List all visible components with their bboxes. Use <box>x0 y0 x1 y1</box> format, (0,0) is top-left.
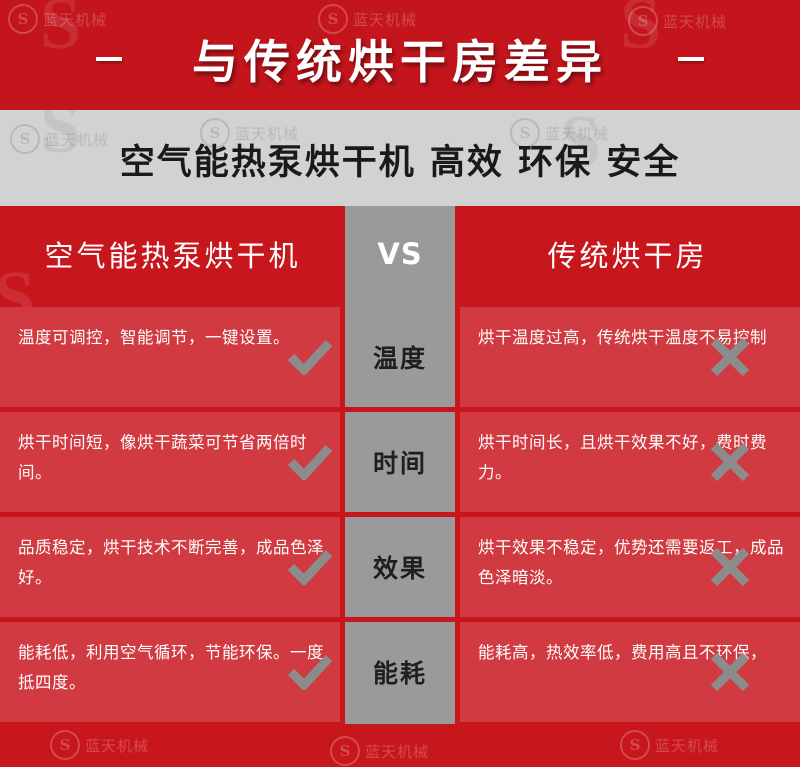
row-left-text: 烘干时间短，像烘干蔬菜可节省两倍时间。 <box>0 412 340 512</box>
comparison-table: S S S 蓝天机械 空气能热泵烘干机 VS 传统烘干房 温度可调控，智能调节，… <box>0 206 800 724</box>
table-head-vs: VS <box>345 206 455 302</box>
row-label: 时间 <box>345 412 455 512</box>
watermark-circle-icon: S <box>620 730 650 760</box>
row-left-text: 能耗低，利用空气循环，节能环保。一度抵四度。 <box>0 622 340 722</box>
watermark-brand-8: S 蓝天机械 <box>50 730 149 760</box>
row-left-text: 品质稳定，烘干技术不断完善，成品色泽好。 <box>0 517 340 617</box>
table-row: 能耗低，利用空气循环，节能环保。一度抵四度。 能耗 能耗高，热效率低，费用高且不… <box>0 622 800 722</box>
table-row: 烘干时间短，像烘干蔬菜可节省两倍时间。 时间 烘干时间长，且烘干效果不好，费时费… <box>0 412 800 512</box>
page-root: S S S 蓝天机械 S 蓝天机械 S 蓝天机械 与传统烘干房差异 S S S … <box>0 0 800 767</box>
subtitle-text: 空气能热泵烘干机 高效 环保 安全 <box>0 134 800 185</box>
watermark-brand-10: S 蓝天机械 <box>620 730 719 760</box>
row-right-text: 能耗高，热效率低，费用高且不环保， <box>460 622 800 722</box>
watermark-circle-icon: S <box>50 730 80 760</box>
header-band: S S S 蓝天机械 S 蓝天机械 S 蓝天机械 与传统烘干房差异 <box>0 0 800 110</box>
row-right-text: 烘干温度过高，传统烘干温度不易控制 <box>460 307 800 407</box>
table-row: 温度可调控，智能调节，一键设置。 温度 烘干温度过高，传统烘干温度不易控制 <box>0 307 800 407</box>
footer-band: S 蓝天机械 S 蓝天机械 S 蓝天机械 <box>0 724 800 767</box>
watermark-circle-icon: S <box>330 736 360 766</box>
table-head-right: 传统烘干房 <box>455 206 800 302</box>
table-head-left: 空气能热泵烘干机 <box>0 206 345 302</box>
row-right-text: 烘干效果不稳定，优势还需要返工，成品色泽暗淡。 <box>460 517 800 617</box>
watermark-brand-9: S 蓝天机械 <box>330 736 429 766</box>
row-label: 温度 <box>345 307 455 407</box>
row-right-text: 烘干时间长，且烘干效果不好，费时费力。 <box>460 412 800 512</box>
row-label: 效果 <box>345 517 455 617</box>
subtitle-band: S S S 蓝天机械 S 蓝天机械 S 蓝天机械 空气能热泵烘干机 高效 环保 … <box>0 110 800 206</box>
page-title: 与传统烘干房差异 <box>0 26 800 92</box>
row-left-text: 温度可调控，智能调节，一键设置。 <box>0 307 340 407</box>
row-label: 能耗 <box>345 622 455 722</box>
table-head-row: 空气能热泵烘干机 VS 传统烘干房 <box>0 206 800 302</box>
table-row: 品质稳定，烘干技术不断完善，成品色泽好。 效果 烘干效果不稳定，优势还需要返工，… <box>0 517 800 617</box>
